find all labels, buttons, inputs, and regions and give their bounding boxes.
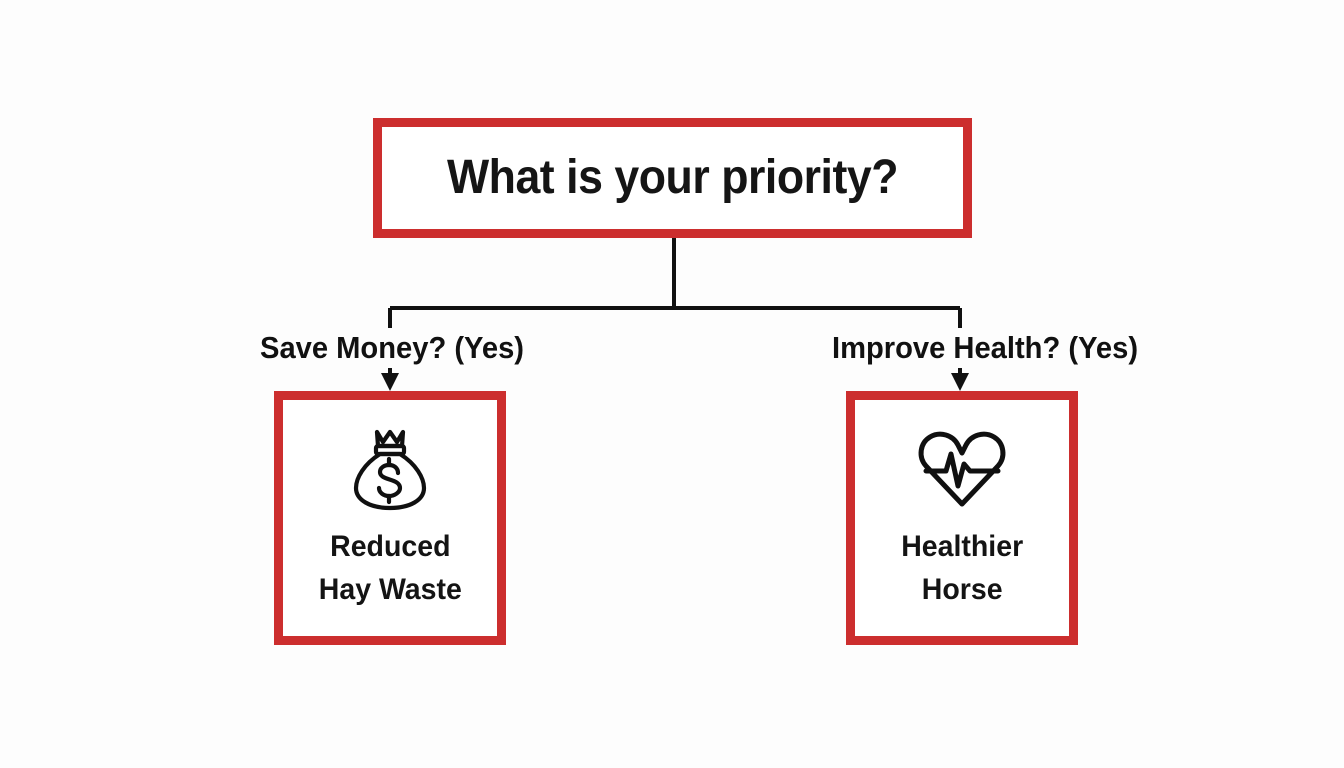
outcome-line-1: Healthier bbox=[901, 526, 1023, 569]
arrowhead-right bbox=[951, 373, 969, 391]
outcome-line-2: Horse bbox=[901, 569, 1023, 612]
page-title: What is your priority? bbox=[447, 154, 898, 202]
outcome-label-reduced-hay-waste: Reduced Hay Waste bbox=[318, 526, 461, 611]
outcome-line-1: Reduced bbox=[318, 526, 461, 569]
outcome-line-2: Hay Waste bbox=[318, 569, 461, 612]
arrowhead-left bbox=[381, 373, 399, 391]
decision-tree-diagram: What is your priority? Save Money? (Yes)… bbox=[0, 0, 1344, 768]
outcome-box-healthier-horse[interactable]: Healthier Horse bbox=[846, 391, 1078, 645]
outcome-box-reduced-hay-waste[interactable]: Reduced Hay Waste bbox=[274, 391, 506, 645]
heart-pulse-icon bbox=[916, 426, 1008, 512]
branch-label-save-money: Save Money? (Yes) bbox=[256, 328, 528, 368]
branch-label-improve-health: Improve Health? (Yes) bbox=[828, 328, 1142, 368]
root-decision-box[interactable]: What is your priority? bbox=[373, 118, 972, 238]
connector-lines bbox=[0, 0, 1344, 768]
outcome-label-healthier-horse: Healthier Horse bbox=[901, 526, 1023, 611]
money-bag-icon bbox=[350, 426, 430, 512]
